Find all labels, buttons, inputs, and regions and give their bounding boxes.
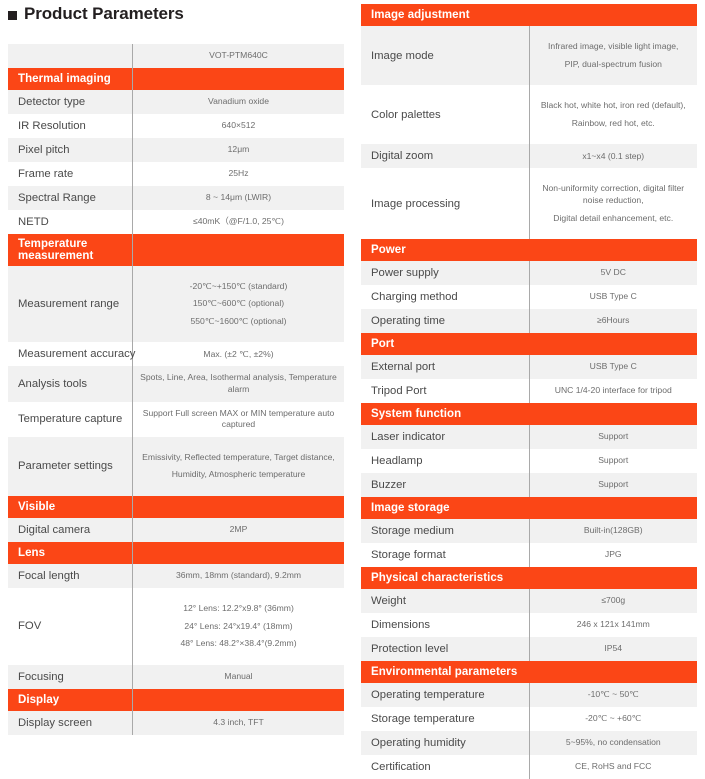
spec-value: ≥6Hours xyxy=(529,309,697,333)
spec-label: Focal length xyxy=(8,564,133,588)
right-spec-column: Image adjustmentImage modeInfrared image… xyxy=(361,4,697,779)
spec-label: Tripod Port xyxy=(361,379,529,403)
spec-value-line: 24° Lens: 24°x19.4° (18mm) xyxy=(139,621,338,633)
section-header-power: Power xyxy=(361,239,697,261)
spec-value-line: Digital detail enhancement, etc. xyxy=(536,213,692,225)
spec-label: Power supply xyxy=(361,261,529,285)
section-header-title: Temperature measurement xyxy=(8,234,133,266)
section-header-image-adjustment: Image adjustment xyxy=(361,4,697,26)
spec-value-line: Humidity, Atmospheric temperature xyxy=(139,469,338,481)
spec-value: Emissivity, Reflected temperature, Targe… xyxy=(133,437,345,496)
page-title: Product Parameters xyxy=(8,4,184,24)
spec-label: Storage medium xyxy=(361,519,529,543)
section-header-system-function: System function xyxy=(361,403,697,425)
spec-row-tripod-port: Tripod PortUNC 1/4-20 interface for trip… xyxy=(361,379,697,403)
spec-row-operating-temperature: Operating temperature-10℃ ~ 50℃ xyxy=(361,683,697,707)
spec-row-measurement-range: Measurement range-20℃~+150℃ (standard)15… xyxy=(8,266,344,343)
spec-value: Support xyxy=(529,473,697,497)
spec-row-buzzer: BuzzerSupport xyxy=(361,473,697,497)
spec-value: Built-in(128GB) xyxy=(529,519,697,543)
spec-row-headlamp: HeadlampSupport xyxy=(361,449,697,473)
spec-value-line: Emissivity, Reflected temperature, Targe… xyxy=(139,452,338,464)
product-parameters-page: Product Parameters VOT-PTM640CThermal im… xyxy=(0,0,705,646)
spec-value-line: 48° Lens: 48.2°×38.4°(9.2mm) xyxy=(139,638,338,650)
spec-value: 4.3 inch, TFT xyxy=(133,711,345,735)
spec-value: JPG xyxy=(529,543,697,567)
section-header-filler xyxy=(133,542,345,564)
spec-label: Measurement range xyxy=(8,266,133,343)
spec-row-power-supply: Power supply5V DC xyxy=(361,261,697,285)
spec-value-line: Non-uniformity correction, digital filte… xyxy=(536,183,692,206)
spec-row-frame-rate: Frame rate25Hz xyxy=(8,162,344,186)
section-header-title: Thermal imaging xyxy=(8,68,133,90)
spec-row-detector-type: Detector typeVanadium oxide xyxy=(8,90,344,114)
spec-value-line: Infrared image, visible light image, xyxy=(536,41,692,53)
spec-value: Spots, Line, Area, Isothermal analysis, … xyxy=(133,366,345,401)
spec-row-display-screen: Display screen4.3 inch, TFT xyxy=(8,711,344,735)
spec-value: Vanadium oxide xyxy=(133,90,345,114)
spec-label: Charging method xyxy=(361,285,529,309)
section-header-title: Port xyxy=(361,333,697,355)
spec-row-laser-indicator: Laser indicatorSupport xyxy=(361,425,697,449)
left-spec-column: VOT-PTM640CThermal imagingDetector typeV… xyxy=(8,44,344,735)
spec-row-image-mode: Image modeInfrared image, visible light … xyxy=(361,26,697,85)
section-header-image-storage: Image storage xyxy=(361,497,697,519)
spec-row-analysis-tools: Analysis toolsSpots, Line, Area, Isother… xyxy=(8,366,344,401)
spec-value: IP54 xyxy=(529,637,697,661)
spec-label: Analysis tools xyxy=(8,366,133,401)
spec-value: 25Hz xyxy=(133,162,345,186)
page-title-text: Product Parameters xyxy=(24,4,184,24)
spec-label: Image mode xyxy=(361,26,529,85)
spec-label: Pixel pitch xyxy=(8,138,133,162)
spec-value: 12μm xyxy=(133,138,345,162)
spec-row-focusing: FocusingManual xyxy=(8,665,344,689)
spec-row-certification: CertificationCE, RoHS and FCC xyxy=(361,755,697,779)
spec-value: Support xyxy=(529,425,697,449)
spec-label: Protection level xyxy=(361,637,529,661)
section-header-display: Display xyxy=(8,689,344,711)
section-header-filler xyxy=(133,234,345,266)
spec-label: Spectral Range xyxy=(8,186,133,210)
spec-row-image-processing: Image processingNon-uniformity correctio… xyxy=(361,168,697,239)
section-header-title: Physical characteristics xyxy=(361,567,697,589)
spec-value: ≤40mK（@F/1.0, 25℃) xyxy=(133,210,345,234)
spec-label xyxy=(8,44,133,68)
spec-value-line: 12° Lens: 12.2°x9.8° (36mm) xyxy=(139,603,338,615)
spec-value: x1~x4 (0.1 step) xyxy=(529,144,697,168)
spec-label: Operating humidity xyxy=(361,731,529,755)
spec-label: Temperature capture xyxy=(8,402,133,437)
spec-value: -20℃~+150℃ (standard)150℃~600℃ (optional… xyxy=(133,266,345,343)
spec-row-netd: NETD≤40mK（@F/1.0, 25℃) xyxy=(8,210,344,234)
spec-label: IR Resolution xyxy=(8,114,133,138)
spec-row-parameter-settings: Parameter settingsEmissivity, Reflected … xyxy=(8,437,344,496)
section-header-visible: Visible xyxy=(8,496,344,518)
spec-row-storage-temperature: Storage temperature-20℃ ~ +60℃ xyxy=(361,707,697,731)
section-header-title: Environmental parameters xyxy=(361,661,697,683)
spec-row-fov: FOV12° Lens: 12.2°x9.8° (36mm)24° Lens: … xyxy=(8,588,344,665)
spec-row-ir-resolution: IR Resolution640×512 xyxy=(8,114,344,138)
section-header-title: Display xyxy=(8,689,133,711)
section-header-title: System function xyxy=(361,403,697,425)
spec-value: 640×512 xyxy=(133,114,345,138)
spec-value: Infrared image, visible light image,PIP,… xyxy=(529,26,697,85)
spec-row-weight: Weight≤700g xyxy=(361,589,697,613)
spec-label: Headlamp xyxy=(361,449,529,473)
spec-row-pixel-pitch: Pixel pitch12μm xyxy=(8,138,344,162)
spec-value-line: PIP, dual-spectrum fusion xyxy=(536,59,692,71)
spec-row-storage-medium: Storage mediumBuilt-in(128GB) xyxy=(361,519,697,543)
spec-row-storage-format: Storage formatJPG xyxy=(361,543,697,567)
right-spec-table: Image adjustmentImage modeInfrared image… xyxy=(361,4,697,779)
spec-value-line: 150℃~600℃ (optional) xyxy=(139,298,338,310)
section-header-lens: Lens xyxy=(8,542,344,564)
section-header-thermal-imaging: Thermal imaging xyxy=(8,68,344,90)
spec-row-temperature-capture: Temperature captureSupport Full screen M… xyxy=(8,402,344,437)
section-header-physical-characteristics: Physical characteristics xyxy=(361,567,697,589)
spec-value: 2MP xyxy=(133,518,345,542)
spec-row-charging-method: Charging methodUSB Type C xyxy=(361,285,697,309)
spec-value: Black hot, white hot, iron red (default)… xyxy=(529,85,697,144)
section-header-title: Image storage xyxy=(361,497,697,519)
spec-value: 8 ~ 14μm (LWIR) xyxy=(133,186,345,210)
section-header-filler xyxy=(133,496,345,518)
spec-label: External port xyxy=(361,355,529,379)
spec-row-model: VOT-PTM640C xyxy=(8,44,344,68)
section-header-port: Port xyxy=(361,333,697,355)
spec-label: Color palettes xyxy=(361,85,529,144)
spec-value: 12° Lens: 12.2°x9.8° (36mm)24° Lens: 24°… xyxy=(133,588,345,665)
spec-label: NETD xyxy=(8,210,133,234)
spec-row-protection-level: Protection levelIP54 xyxy=(361,637,697,661)
spec-row-operating-time: Operating time≥6Hours xyxy=(361,309,697,333)
left-spec-table: VOT-PTM640CThermal imagingDetector typeV… xyxy=(8,44,344,735)
spec-label: Dimensions xyxy=(361,613,529,637)
spec-value-line: -20℃~+150℃ (standard) xyxy=(139,281,338,293)
spec-label: Certification xyxy=(361,755,529,779)
spec-row-dimensions: Dimensions246 x 121x 141mm xyxy=(361,613,697,637)
spec-label: Digital camera xyxy=(8,518,133,542)
spec-label: Frame rate xyxy=(8,162,133,186)
spec-value: USB Type C xyxy=(529,355,697,379)
spec-row-spectral-range: Spectral Range8 ~ 14μm (LWIR) xyxy=(8,186,344,210)
spec-row-digital-zoom: Digital zoomx1~x4 (0.1 step) xyxy=(361,144,697,168)
square-bullet-icon xyxy=(8,11,17,20)
spec-value: VOT-PTM640C xyxy=(133,44,345,68)
spec-value: 36mm, 18mm (standard), 9.2mm xyxy=(133,564,345,588)
spec-label: Detector type xyxy=(8,90,133,114)
spec-label: Operating temperature xyxy=(361,683,529,707)
spec-value: Max. (±2 ℃, ±2%) xyxy=(133,342,345,366)
spec-label: Laser indicator xyxy=(361,425,529,449)
spec-value: Non-uniformity correction, digital filte… xyxy=(529,168,697,239)
section-header-filler xyxy=(133,689,345,711)
spec-value: 246 x 121x 141mm xyxy=(529,613,697,637)
spec-label: Parameter settings xyxy=(8,437,133,496)
spec-label: Image processing xyxy=(361,168,529,239)
spec-value: CE, RoHS and FCC xyxy=(529,755,697,779)
spec-label: FOV xyxy=(8,588,133,665)
spec-label: Focusing xyxy=(8,665,133,689)
spec-label: Storage format xyxy=(361,543,529,567)
section-header-temperature-measurement: Temperature measurement xyxy=(8,234,344,266)
spec-value: -20℃ ~ +60℃ xyxy=(529,707,697,731)
spec-label: Digital zoom xyxy=(361,144,529,168)
spec-value: Manual xyxy=(133,665,345,689)
spec-value: UNC 1/4-20 interface for tripod xyxy=(529,379,697,403)
spec-value: 5~95%, no condensation xyxy=(529,731,697,755)
spec-label: Display screen xyxy=(8,711,133,735)
section-header-title: Lens xyxy=(8,542,133,564)
spec-value-line: 550℃~1600℃ (optional) xyxy=(139,316,338,328)
section-header-title: Power xyxy=(361,239,697,261)
spec-label: Buzzer xyxy=(361,473,529,497)
section-header-environmental-parameters: Environmental parameters xyxy=(361,661,697,683)
spec-label: Storage temperature xyxy=(361,707,529,731)
spec-row-measurement-accuracy: Measurement accuracyMax. (±2 ℃, ±2%) xyxy=(8,342,344,366)
spec-row-operating-humidity: Operating humidity5~95%, no condensation xyxy=(361,731,697,755)
spec-value: -10℃ ~ 50℃ xyxy=(529,683,697,707)
spec-value: Support xyxy=(529,449,697,473)
spec-row-color-palettes: Color palettesBlack hot, white hot, iron… xyxy=(361,85,697,144)
spec-value: 5V DC xyxy=(529,261,697,285)
spec-row-digital-camera: Digital camera2MP xyxy=(8,518,344,542)
spec-value: ≤700g xyxy=(529,589,697,613)
section-header-title: Image adjustment xyxy=(361,4,697,26)
section-header-filler xyxy=(133,68,345,90)
spec-row-focal-length: Focal length36mm, 18mm (standard), 9.2mm xyxy=(8,564,344,588)
right-spec-body: Image adjustmentImage modeInfrared image… xyxy=(361,4,697,779)
spec-label: Measurement accuracy xyxy=(8,342,133,366)
section-header-title: Visible xyxy=(8,496,133,518)
spec-value-line: Black hot, white hot, iron red (default)… xyxy=(536,100,692,112)
spec-value: USB Type C xyxy=(529,285,697,309)
spec-row-external-port: External portUSB Type C xyxy=(361,355,697,379)
spec-value-line: Rainbow, red hot, etc. xyxy=(536,118,692,130)
spec-value: Support Full screen MAX or MIN temperatu… xyxy=(133,402,345,437)
left-spec-body: VOT-PTM640CThermal imagingDetector typeV… xyxy=(8,44,344,735)
spec-label: Weight xyxy=(361,589,529,613)
spec-label: Operating time xyxy=(361,309,529,333)
